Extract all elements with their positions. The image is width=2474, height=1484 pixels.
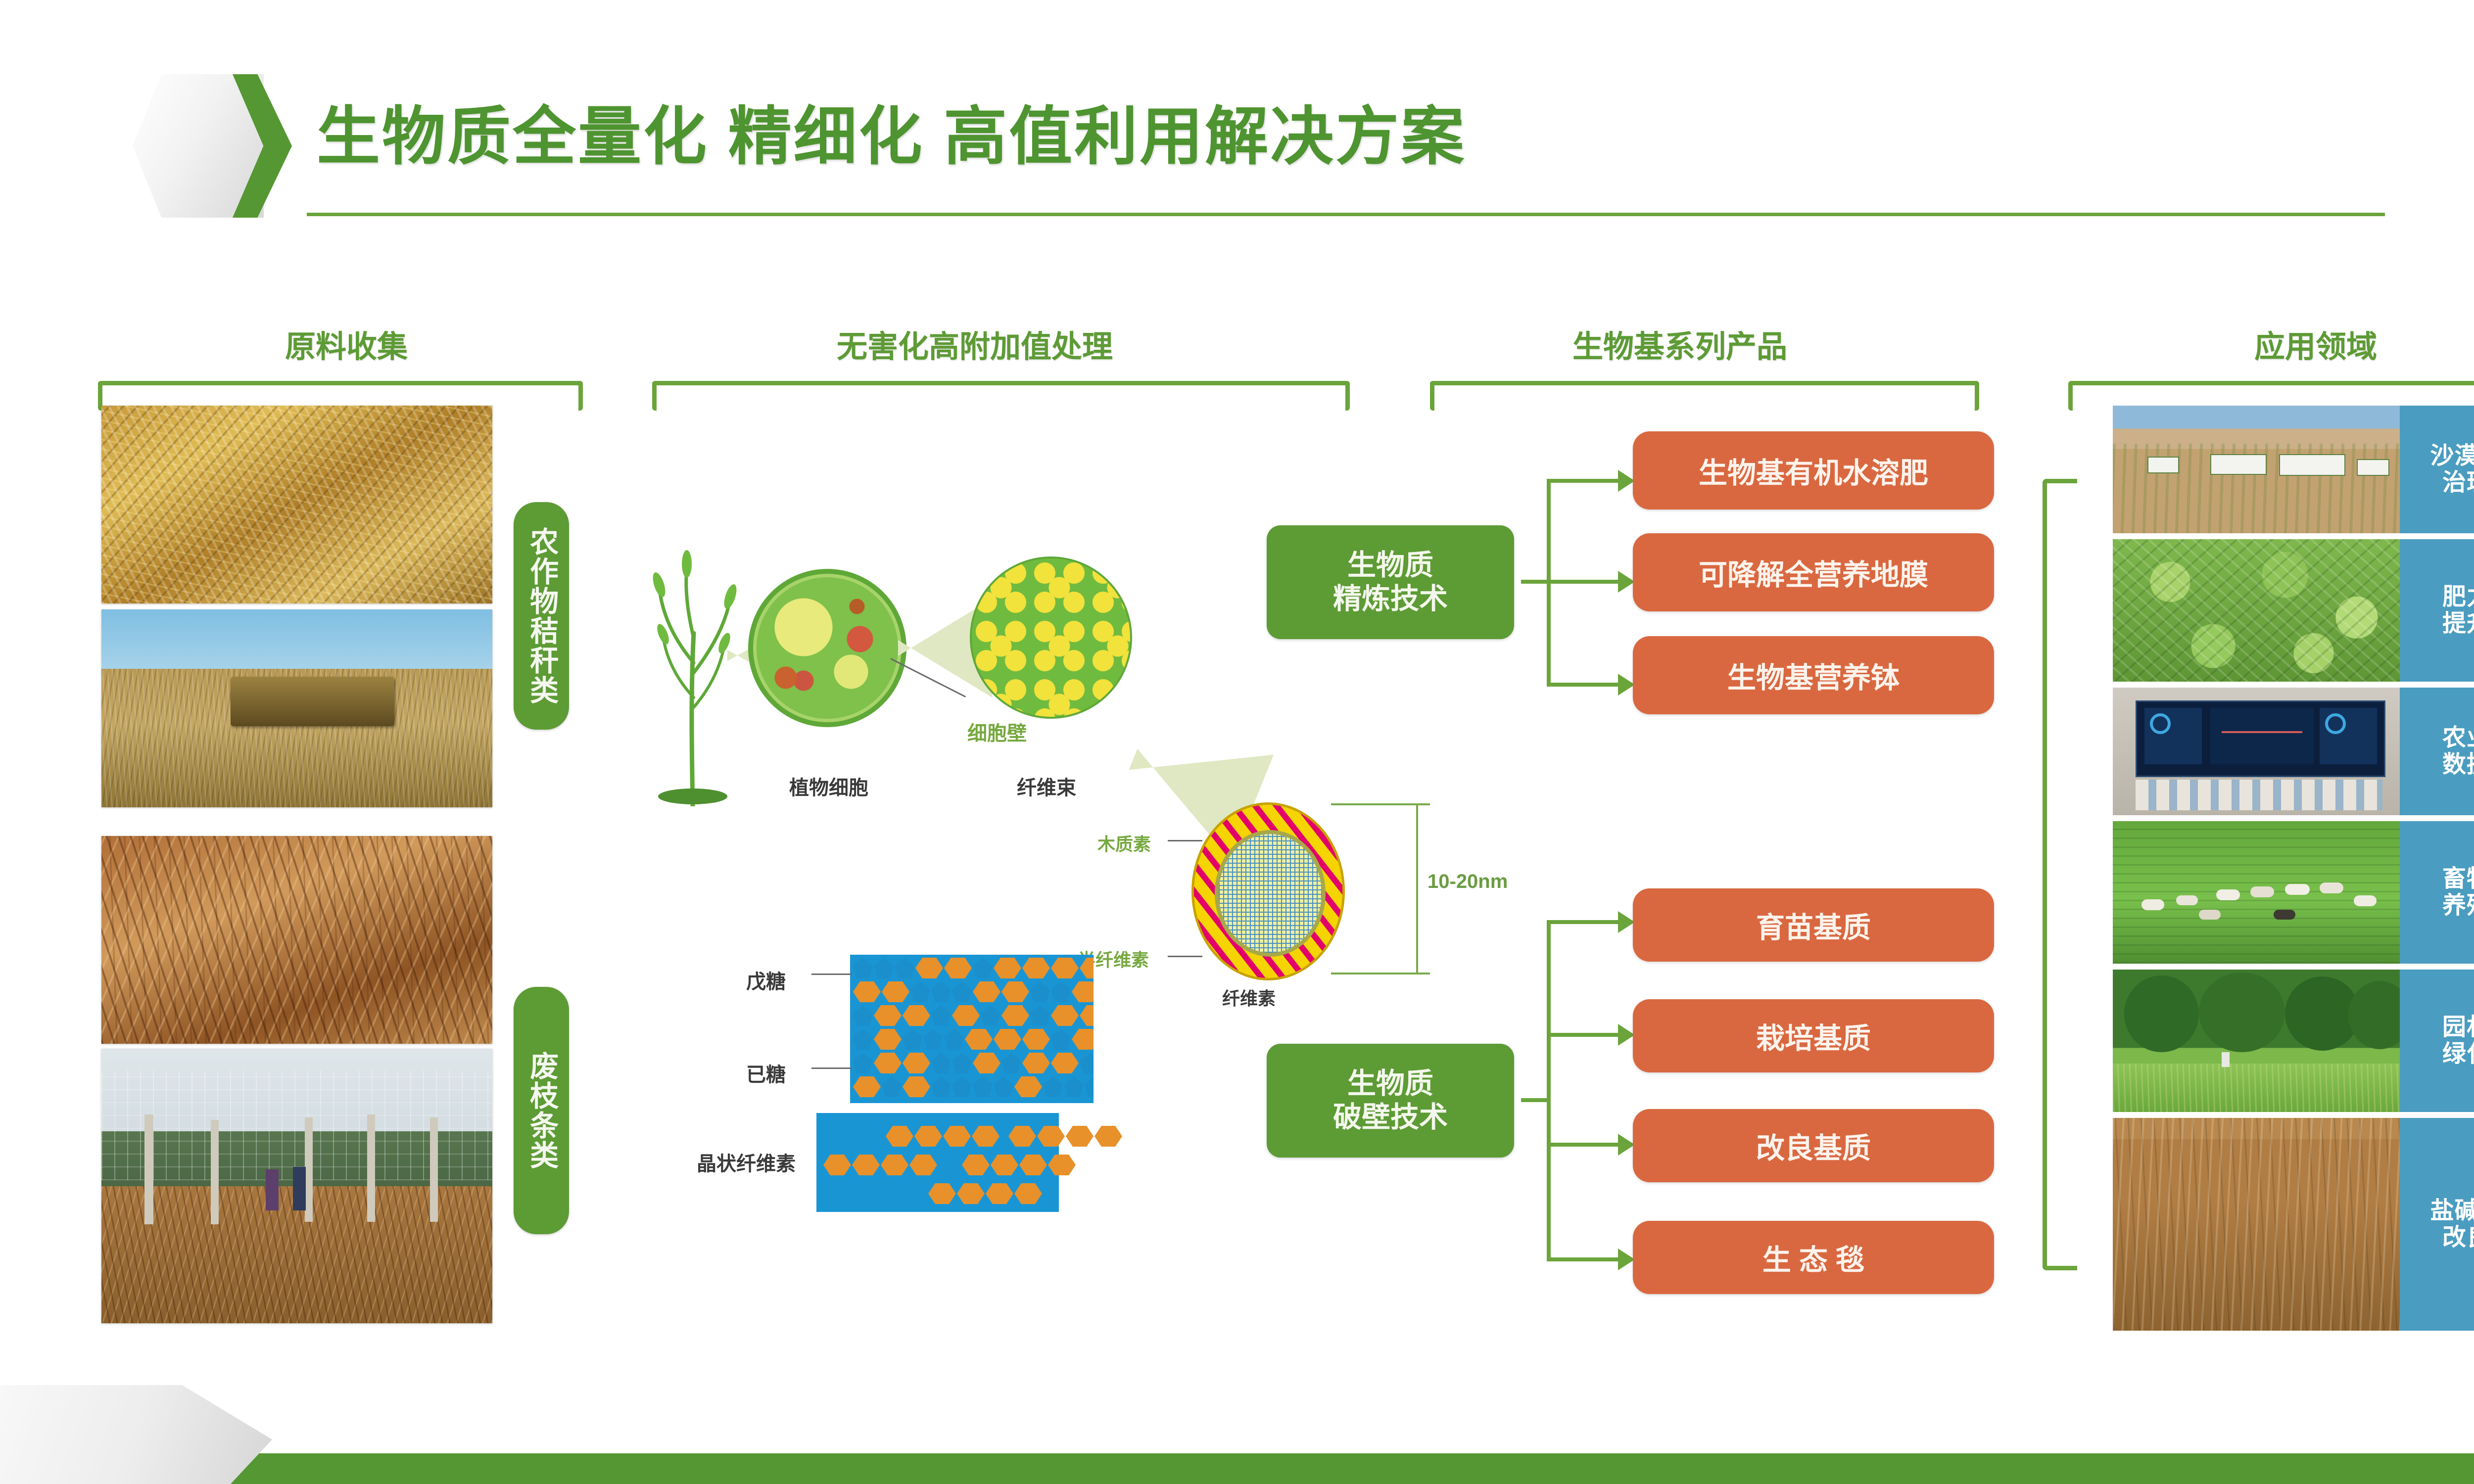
arrow-wall-2: [1618, 1024, 1635, 1046]
plant-illustration: [633, 539, 757, 806]
product-pill-ecological-blanket[interactable]: 生 态 毯: [1633, 1221, 1994, 1294]
label-crystalline-cellulose: 晶状纤维素: [697, 1148, 796, 1176]
product-pill-nutrient-pot[interactable]: 生物基营养钵: [1633, 636, 1994, 714]
stage-label-applications: 应用领域: [2048, 322, 2474, 366]
app-saline-line1: 盐碱地: [2430, 1198, 2474, 1224]
page-title: 生物质全量化 精细化 高值利用解决方案: [317, 85, 1466, 177]
connector-wall-spine: [1547, 920, 1551, 1261]
fiber-bundle-diagram: [970, 556, 1132, 719]
tech-refining-line1: 生物质: [1333, 549, 1448, 582]
arrow-refining-2: [1618, 571, 1635, 593]
connector-wall-branch-3: [1547, 1143, 1621, 1147]
source-tag-crop-straw: 农作物秸秆类: [514, 502, 569, 730]
app-saline-line2: 改良: [2430, 1224, 2474, 1251]
product-pill-seedling-substrate[interactable]: 育苗基质: [1633, 888, 1994, 962]
arrow-refining-3: [1618, 674, 1635, 696]
app-livestock-line1: 畜牧: [2442, 866, 2474, 892]
footer-hexagon-decoration: [0, 1385, 272, 1484]
label-cell-wall: 细胞壁: [967, 717, 1027, 746]
app-desert-line1: 沙漠化: [2430, 443, 2474, 469]
label-lignin: 木质素: [1097, 830, 1151, 856]
tech-pill-refining[interactable]: 生物质 精炼技术: [1267, 525, 1514, 639]
tech-wallbreaking-line1: 生物质: [1333, 1067, 1448, 1101]
label-plant-cell: 植物细胞: [789, 772, 868, 800]
label-pentose: 戊糖: [746, 966, 786, 994]
tech-pill-wallbreaking[interactable]: 生物质 破壁技术: [1267, 1044, 1514, 1158]
label-fiber-bundle: 纤维束: [1017, 772, 1076, 800]
app-landscape-line2: 绿化: [2442, 1041, 2474, 1067]
product-pill-cultivation-substrate[interactable]: 栽培基质: [1633, 999, 1994, 1072]
connector-wall-branch-2: [1547, 1033, 1621, 1037]
hemicellulose-leader-line: [1168, 956, 1202, 957]
connector-wall-stem: [1521, 1098, 1551, 1102]
app-data-line2: 数据: [2442, 751, 2474, 778]
stage-label-processing: 无害化高附加值处理: [703, 322, 1247, 366]
cellulose-core: [1215, 830, 1326, 957]
application-row-saline-soil[interactable]: 盐碱地 改良: [2113, 1118, 2474, 1331]
stage-bracket-products: [1430, 381, 1979, 411]
connector-refining-branch-3: [1547, 683, 1621, 687]
plant-cell-diagram: [748, 569, 906, 727]
dimension-bottom-tick: [1331, 973, 1430, 974]
pentose-leader-line: [811, 974, 852, 975]
application-row-fertility[interactable]: 肥力 提升: [2113, 539, 2474, 682]
connector-refining-branch-2: [1547, 580, 1621, 584]
app-fertility-line1: 肥力: [2442, 584, 2474, 610]
connector-refining-branch-1: [1547, 479, 1621, 483]
connector-wall-branch-4: [1547, 1257, 1621, 1261]
app-desert-line2: 治理: [2430, 469, 2474, 496]
label-hexose: 已糖: [746, 1059, 786, 1087]
product-pill-water-soluble-fertilizer[interactable]: 生物基有机水溶肥: [1633, 431, 1994, 510]
dimension-vertical-line: [1416, 803, 1418, 974]
hexose-leader-line: [811, 1067, 852, 1069]
label-nanofiber-dimension: 10-20nm: [1427, 871, 1508, 893]
photo-vineyard-pruning: [101, 1049, 492, 1323]
connector-wall-branch-1: [1547, 920, 1621, 924]
arrow-wall-3: [1618, 1134, 1635, 1156]
source-tag-waste-branches: 废枝条类: [514, 987, 569, 1234]
tech-wallbreaking-line2: 破壁技术: [1333, 1101, 1448, 1134]
connector-refining-stem: [1521, 580, 1551, 584]
app-landscape-line1: 园林: [2442, 1014, 2474, 1041]
product-pill-improvement-substrate[interactable]: 改良基质: [1633, 1109, 1994, 1182]
sugar-chain-diagram: [850, 955, 1094, 1103]
photo-straw-bale: [101, 609, 492, 807]
title-underline: [307, 213, 2385, 216]
arrow-wall-4: [1618, 1249, 1635, 1270]
label-cellulose: 纤维素: [1222, 984, 1276, 1010]
app-fertility-line2: 提升: [2442, 610, 2474, 637]
app-livestock-line2: 养殖: [2442, 892, 2474, 919]
arrow-wall-1: [1618, 911, 1635, 933]
stage-bracket-processing: [652, 381, 1350, 411]
photo-corn-straw: [101, 406, 492, 603]
application-row-livestock[interactable]: 畜牧 养殖: [2113, 821, 2474, 964]
application-row-desert-control[interactable]: 沙漠化 治理: [2113, 406, 2474, 533]
stage-label-products: 生物基系列产品: [1430, 322, 1930, 366]
product-pill-biodegradable-mulch-film[interactable]: 可降解全营养地膜: [1633, 533, 1994, 611]
stage-label-raw-material: 原料收集: [188, 322, 505, 366]
tech-refining-line2: 精炼技术: [1333, 582, 1448, 616]
crystalline-cellulose-diagram: [816, 1113, 1059, 1212]
arrow-refining-1: [1618, 470, 1635, 492]
application-row-agriculture-data[interactable]: 农业 数据: [2113, 688, 2474, 815]
application-row-landscaping[interactable]: 园林 绿化: [2113, 970, 2474, 1112]
applications-input-bracket: [2043, 479, 2077, 1270]
lignin-leader-line: [1168, 840, 1202, 841]
photo-dry-branches: [101, 836, 492, 1044]
dimension-top-tick: [1331, 803, 1430, 805]
app-data-line1: 农业: [2442, 725, 2474, 751]
footer-green-bar: [0, 1453, 2474, 1484]
